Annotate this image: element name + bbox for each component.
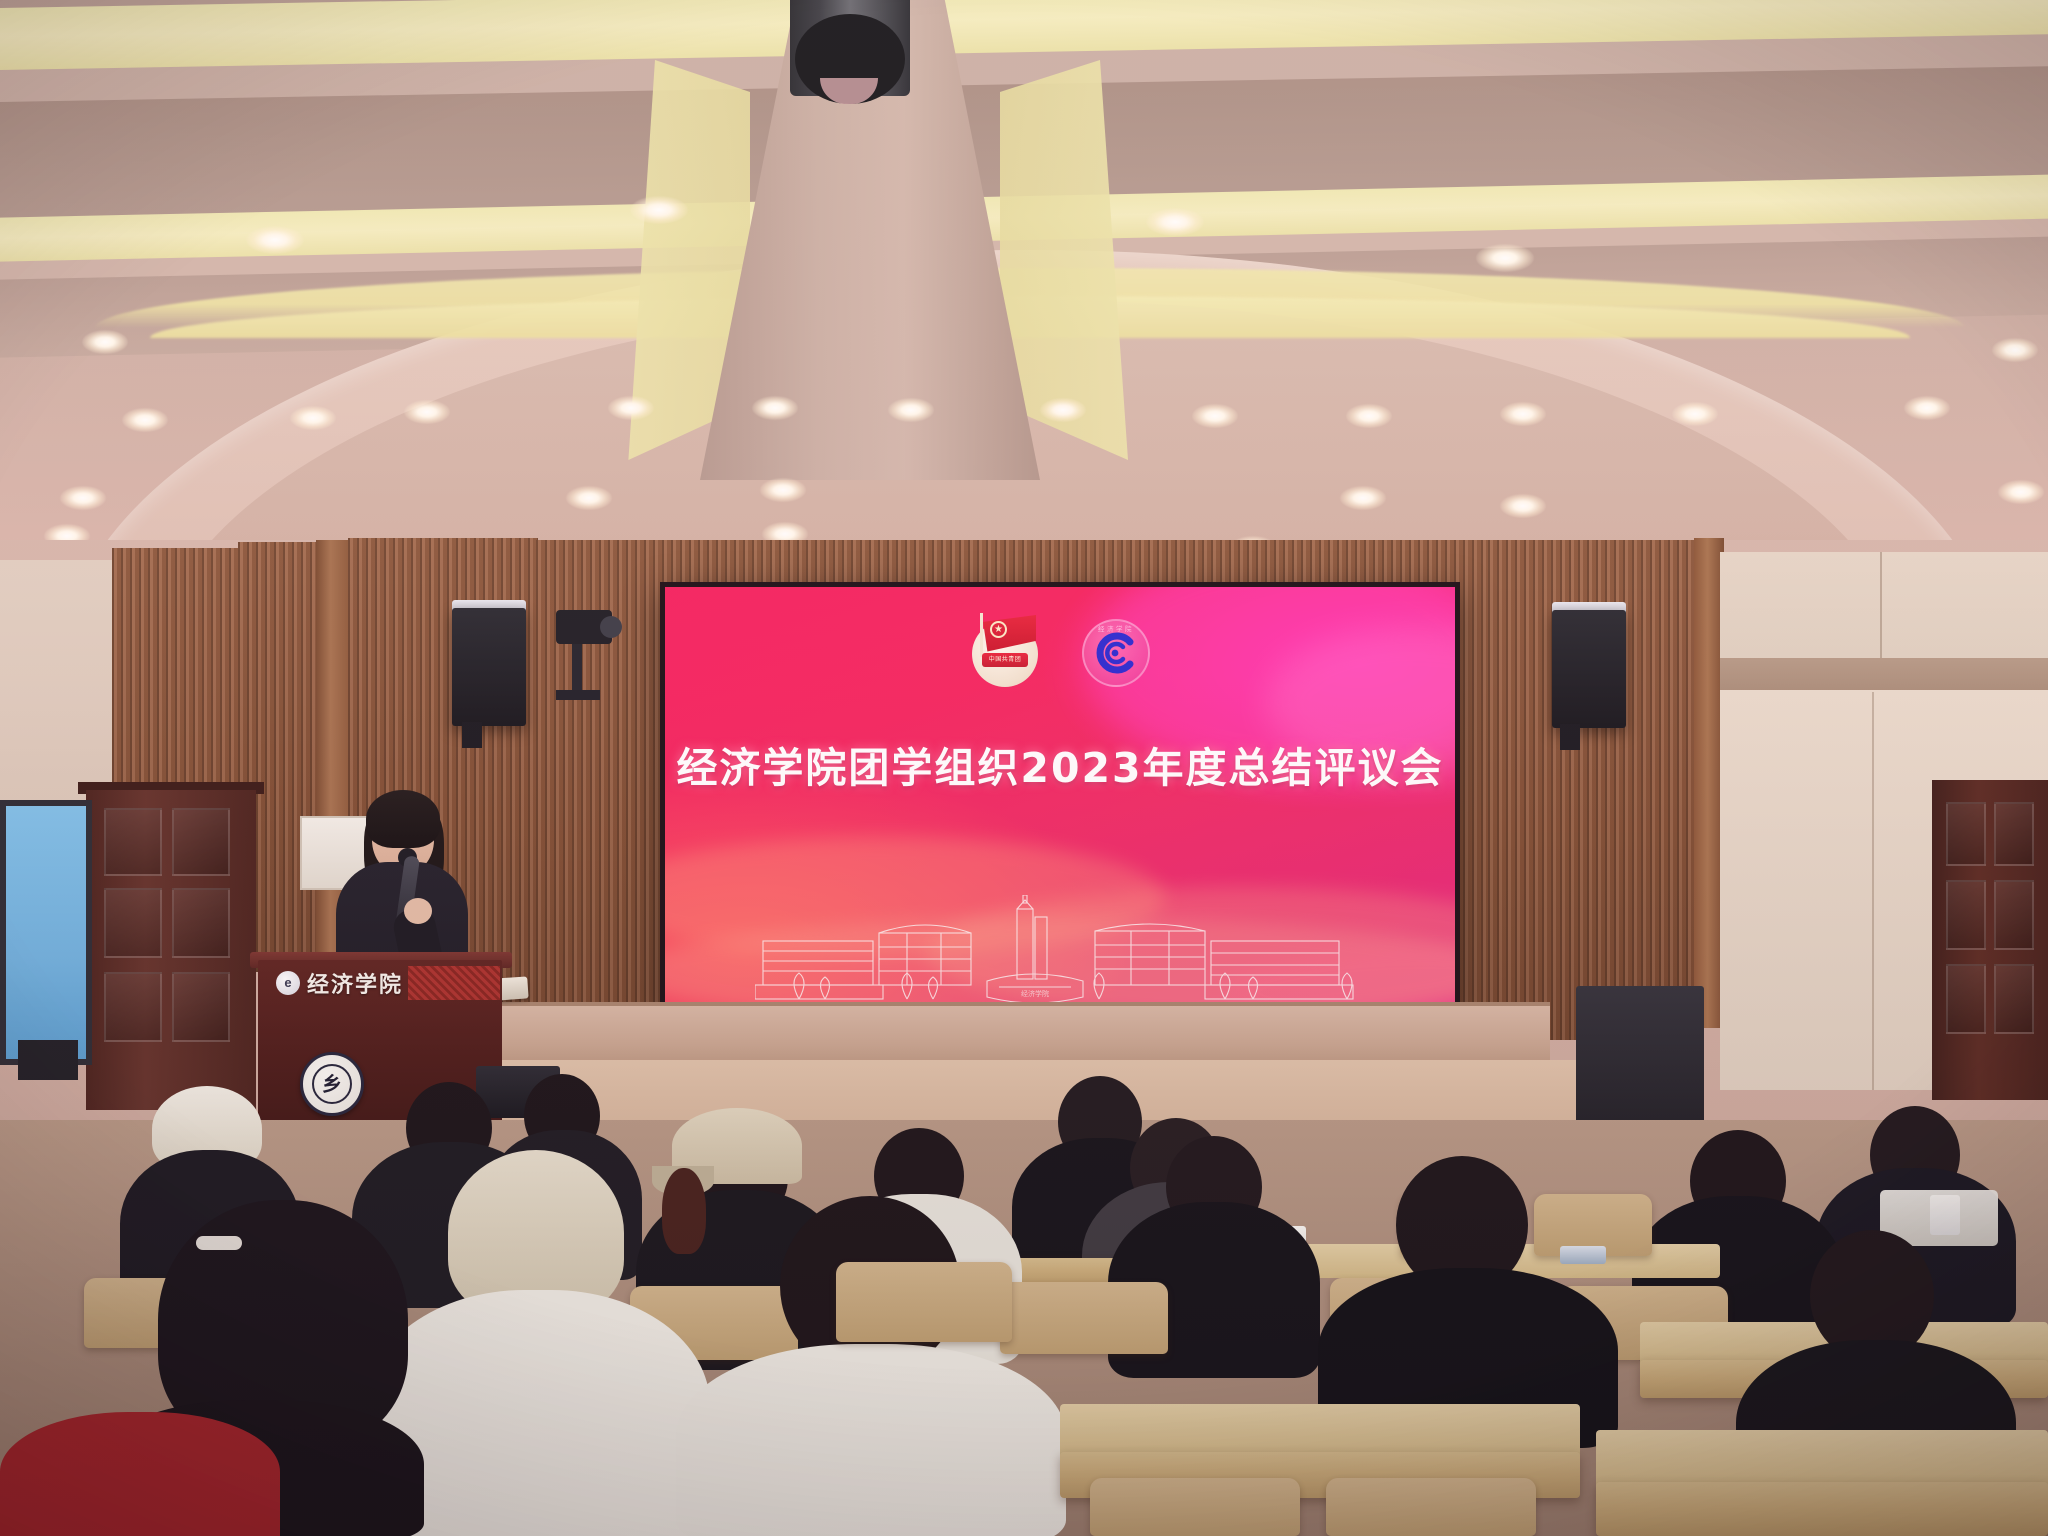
door-panel [104,808,162,876]
seatback [1000,1282,1168,1354]
downlight [1998,480,2044,504]
door-panel [104,888,162,958]
hair-clip [196,1236,242,1250]
wall-speaker-right [1552,610,1626,728]
podium-seal-glyph: 乡 [312,1064,352,1104]
paper-cup-tray [1930,1195,1960,1235]
downlight [1476,244,1534,272]
downlight [1146,208,1204,236]
door-panel [1994,802,2034,866]
camera-base [556,690,600,700]
monitor-stand [18,1040,78,1080]
downlight [1992,338,2038,362]
blue-monitor-left[interactable] [0,800,92,1065]
downlight [60,486,106,510]
door-panel [104,972,162,1042]
phone-on-desk [1560,1246,1606,1264]
downlight [82,330,128,354]
downlight [1500,494,1546,518]
cyl-star-icon: ★ [994,625,1003,634]
door-panel [1946,802,1986,866]
svg-text:经济学院: 经济学院 [1021,989,1049,998]
door-left[interactable] [86,790,256,1110]
downlight [1040,398,1086,422]
presenter-hair [366,790,440,848]
camera-arm-left [572,642,582,694]
podium-logo-glyph: e [281,975,295,990]
desk-front-right-edge [1596,1482,2048,1536]
seatback [836,1262,1012,1342]
right-wall-seam-upper [1880,552,1882,662]
door-panel [172,808,230,876]
speaker-left-bracket [462,722,482,748]
door-panel [1994,964,2034,1034]
door-panel [1994,880,2034,950]
presenter-hand [404,898,432,924]
downlight [752,396,798,420]
downlight [608,396,654,420]
downlight [246,226,304,254]
right-wall-cream-upper [1720,552,2048,662]
door-panel [1946,964,1986,1034]
downlight [1192,404,1238,428]
communist-youth-league-emblem: ★ 中国共青团 [968,613,1042,687]
screen-logo-row: ★ 中国共青团 经济学院 [968,613,1152,687]
podium-nameplate: e 经济学院 [268,966,474,1000]
campus-skyline-line-art: 经济学院 [755,895,1375,1007]
screen-title: 经济学院团学组织2023年度总结评议会 [665,734,1455,794]
podium-nameplate-text: 经济学院 [307,967,403,999]
downlight [760,478,806,502]
downlight [122,408,168,432]
seatback [1326,1478,1536,1536]
downlight [1346,404,1392,428]
door-panel [172,972,230,1042]
right-wall-seam-lower [1872,692,1874,1090]
downlight [630,196,688,224]
university-circular-emblem: 经济学院 [1078,613,1152,687]
downlight [566,486,612,510]
speaker-right-bracket [1560,724,1580,750]
led-screen-frame: ★ 中国共青团 经济学院 经济学院团学组织2023年度总结评议会 [660,582,1460,1018]
desk-front-right [1596,1430,2048,1490]
door-panel [172,888,230,958]
led-screen: ★ 中国共青团 经济学院 经济学院团学组织2023年度总结评议会 [665,587,1455,1013]
cyl-flag-pole [980,613,983,657]
podium-logo-icon: e [276,971,300,995]
door-right[interactable] [1932,780,2048,1100]
downlight [888,398,934,422]
wall-speaker-left [452,608,526,726]
cyl-banner-text: 中国共青团 [982,654,1028,666]
downlight [1672,402,1718,426]
downlight [1904,396,1950,420]
auditorium-photograph: ★ 中国共青团 经济学院 经济学院团学组织2023年度总结评议会 [0,0,2048,1536]
seatback [1090,1478,1300,1536]
downlight [404,400,450,424]
university-glyph-icon [1092,629,1140,677]
downlight [1500,402,1546,426]
downlight [1340,486,1386,510]
door-panel [1946,880,1986,950]
right-wall-trim-band [1720,658,2048,694]
downlight [290,406,336,430]
camera-lens-icon [600,616,622,638]
